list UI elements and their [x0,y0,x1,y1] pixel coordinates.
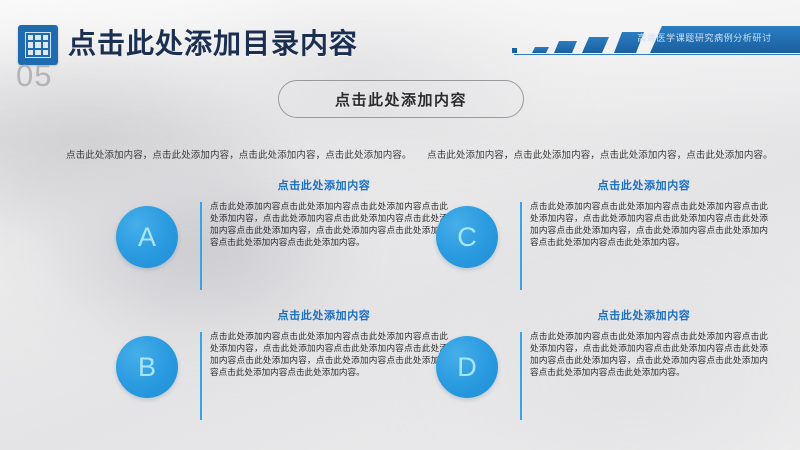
item-divider [200,332,202,420]
content-items-grid: A 点击此处添加内容 点击此处添加内容点击此处添加内容点击此处添加内容点击此处添… [0,178,800,440]
content-item-c[interactable]: C 点击此处添加内容 点击此处添加内容点击此处添加内容点击此处添加内容点击此处添… [428,178,768,302]
grid-icon-cell [35,35,40,40]
grid-icon-cell [43,42,48,47]
content-item-d[interactable]: D 点击此处添加内容 点击此处添加内容点击此处添加内容点击此处添加内容点击此处添… [428,308,768,432]
item-divider [520,332,522,420]
badge-letter: A [138,224,156,251]
badge-circle-a: A [116,206,178,268]
badge-circle-b: B [116,336,178,398]
badge-circle-d: D [436,336,498,398]
section-pill-label: 点击此处添加内容 [335,89,467,110]
grid-icon-cell [28,42,33,47]
section-pill-button[interactable]: 点击此处添加内容 [278,80,524,118]
item-heading: 点击此处添加内容 [200,178,448,194]
ribbon-text: 高端医学课题研究病例分析研讨 [617,31,792,45]
content-item-b[interactable]: B 点击此处添加内容 点击此处添加内容点击此处添加内容点击此处添加内容点击此处添… [108,308,448,432]
item-body-text: 点击此处添加内容点击此处添加内容点击此处添加内容点击此处添加内容，点击此处添加内… [210,200,448,248]
grid-icon-cell [43,50,48,55]
slide-number: 05 [16,60,52,91]
intro-text-right: 点击此处添加内容，点击此处添加内容，点击此处添加内容，点击此处添加内容。 [427,150,773,161]
grid-icon-cell [35,42,40,47]
grid-icon-cell [28,35,33,40]
intro-paragraph: 点击此处添加内容，点击此处添加内容，点击此处添加内容，点击此处添加内容。 点击此… [66,148,742,163]
item-heading: 点击此处添加内容 [200,308,448,324]
corner-ribbon: 高端医学课题研究病例分析研讨 [510,26,800,62]
badge-letter: D [457,354,477,381]
item-divider [200,202,202,290]
grid-icon-cell [28,50,33,55]
item-divider [520,202,522,290]
badge-letter: B [138,354,156,381]
content-item-a[interactable]: A 点击此处添加内容 点击此处添加内容点击此处添加内容点击此处添加内容点击此处添… [108,178,448,302]
intro-text-left: 点击此处添加内容，点击此处添加内容，点击此处添加内容，点击此处添加内容。 [66,150,412,161]
grid-icon-inner [25,32,51,58]
item-heading: 点击此处添加内容 [520,178,768,194]
item-body-text: 点击此处添加内容点击此处添加内容点击此处添加内容点击此处添加内容，点击此处添加内… [530,200,768,248]
grid-icon-cell [35,50,40,55]
item-body-text: 点击此处添加内容点击此处添加内容点击此处添加内容点击此处添加内容，点击此处添加内… [530,330,768,378]
item-body-text: 点击此处添加内容点击此处添加内容点击此处添加内容点击此处添加内容，点击此处添加内… [210,330,448,378]
badge-letter: C [457,224,477,251]
grid-icon-cell [43,35,48,40]
page-title: 点击此处添加目录内容 [68,26,358,62]
slide-canvas: 05 点击此处添加目录内容 [0,0,800,450]
badge-circle-c: C [436,206,498,268]
item-heading: 点击此处添加内容 [520,308,768,324]
